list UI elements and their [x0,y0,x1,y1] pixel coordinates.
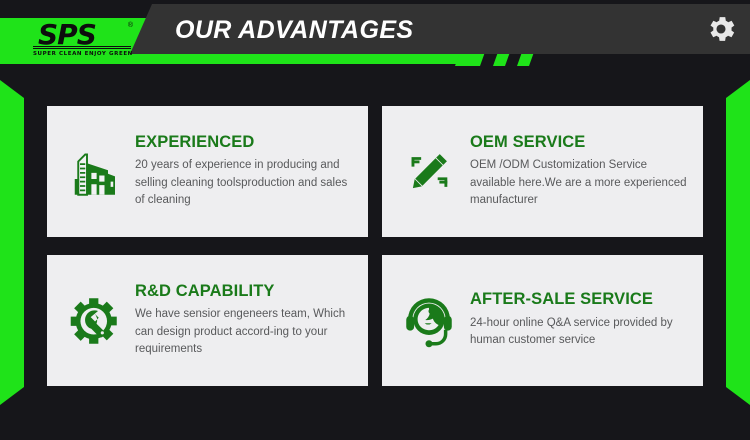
gear-icon[interactable] [704,12,738,46]
page-title: OUR ADVANTAGES [175,16,413,45]
card-experienced[interactable]: EXPERIENCED 20 years of experience in pr… [47,106,368,237]
advantages-card-grid: EXPERIENCED 20 years of experience in pr… [47,106,703,386]
logo-tagline: SUPER CLEAN ENJOY GREEN [33,51,132,57]
gear-wrench-icon [63,286,125,356]
logo-rule-lines [33,46,131,49]
card-title: AFTER-SALE SERVICE [470,291,689,308]
slash-mark-2 [493,52,510,66]
card-description: 24-hour online Q&A service provided by h… [470,315,689,350]
card-title: R&D CAPABILITY [135,283,354,300]
pencil-design-icon [398,137,460,207]
card-title: OEM SERVICE [470,134,689,151]
card-body: R&D CAPABILITY We have sensior engeneers… [135,283,354,359]
card-rd-capability[interactable]: R&D CAPABILITY We have sensior engeneers… [47,255,368,386]
card-after-sale-service[interactable]: AFTER-SALE SERVICE 24-hour online Q&A se… [382,255,703,386]
card-description: OEM /ODM Customization Service available… [470,157,689,210]
registered-trademark-icon: ® [128,22,133,29]
left-green-accent-shape [0,80,24,405]
brand-logo: SPS ® SUPER CLEAN ENJOY GREEN [30,22,135,60]
card-oem-service[interactable]: OEM SERVICE OEM /ODM Customization Servi… [382,106,703,237]
right-green-accent-shape [726,80,750,405]
building-factory-icon [63,137,125,207]
headset-support-icon [398,286,460,356]
card-title: EXPERIENCED [135,134,354,151]
card-body: EXPERIENCED 20 years of experience in pr… [135,134,354,210]
card-body: AFTER-SALE SERVICE 24-hour online Q&A se… [470,291,689,350]
advantages-banner: SPS ® SUPER CLEAN ENJOY GREEN OUR ADVANT… [0,0,750,440]
card-body: OEM SERVICE OEM /ODM Customization Servi… [470,134,689,210]
card-description: 20 years of experience in producing and … [135,157,354,210]
slash-mark-3 [517,52,534,66]
slash-mark-1 [455,52,485,66]
card-description: We have sensior engeneers team, Which ca… [135,306,354,359]
